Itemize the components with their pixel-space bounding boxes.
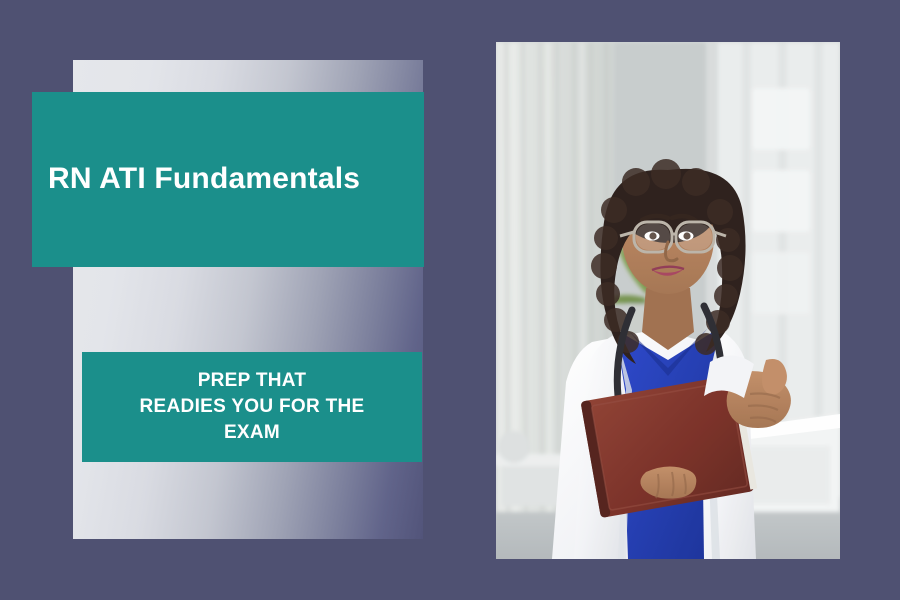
- subtitle-line-1: PREP THAT: [198, 370, 307, 391]
- subtitle-line-2: READIES YOU FOR THE: [140, 396, 365, 417]
- subtitle-line-3: EXAM: [224, 422, 280, 443]
- promo-slide: RN ATI Fundamentals PREP THAT READIES YO…: [0, 0, 900, 600]
- page-title: RN ATI Fundamentals: [32, 162, 360, 197]
- title-banner: RN ATI Fundamentals: [32, 92, 424, 267]
- nurse-photo-illustration: [496, 42, 840, 559]
- subtitle-banner: PREP THAT READIES YOU FOR THE EXAM: [82, 352, 422, 462]
- nurse-photo: [496, 42, 840, 559]
- subtitle-text: PREP THAT READIES YOU FOR THE EXAM: [82, 368, 422, 447]
